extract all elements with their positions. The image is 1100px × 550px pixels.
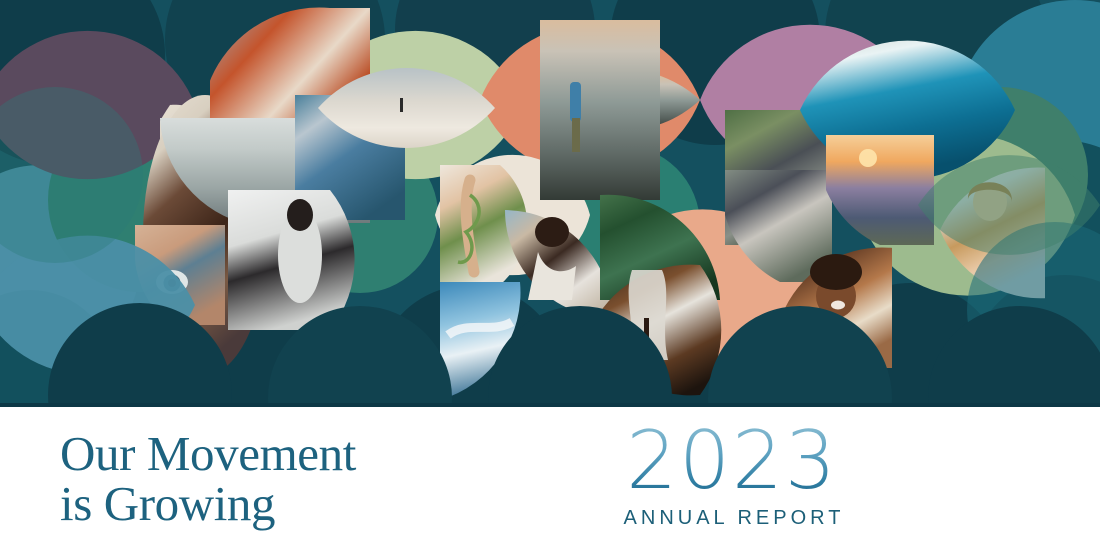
report-year: 2023 [612, 419, 852, 503]
cover-footer: Our Movement is Growing 2023 ANNUAL REPO… [0, 407, 1100, 550]
annual-report-cover: Our Movement is Growing 2023 ANNUAL REPO… [0, 0, 1100, 550]
page-title: Our Movement is Growing [60, 429, 356, 529]
photo-mosaic-banner [0, 0, 1100, 407]
report-label: ANNUAL REPORT [612, 507, 852, 530]
year-block: 2023 ANNUAL REPORT [612, 419, 852, 530]
